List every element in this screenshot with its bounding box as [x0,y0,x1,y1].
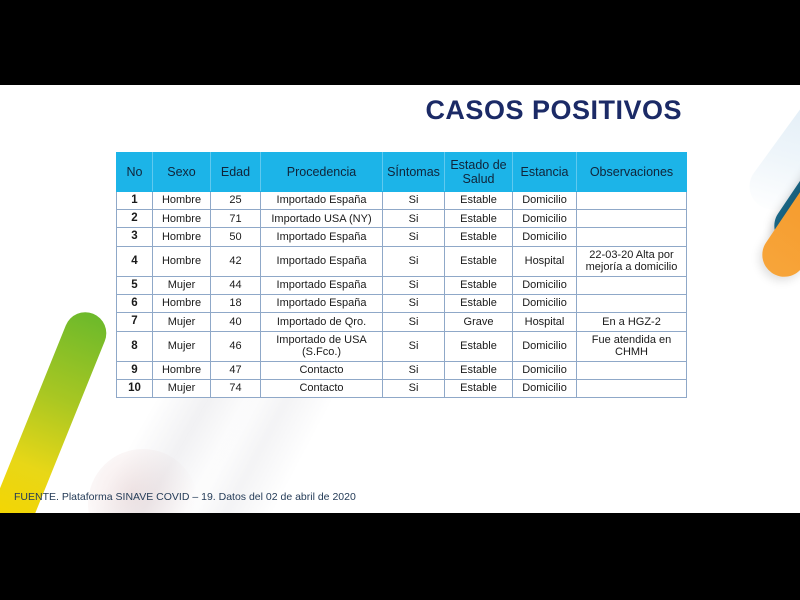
cell-observaciones [577,361,687,379]
cell-estancia: Hospital [513,246,577,276]
column-header-procedencia: Procedencia [261,153,383,192]
table-header-row: No Sexo Edad Procedencia SÍntomas Estado… [117,153,687,192]
cell-sexo: Hombre [153,246,211,276]
cell-estancia: Domicilio [513,295,577,313]
cell-no: 4 [117,246,153,276]
cases-table-container: No Sexo Edad Procedencia SÍntomas Estado… [116,152,686,398]
source-note: FUENTE. Plataforma SINAVE COVID – 19. Da… [14,491,356,503]
cell-procedencia: Importado España [261,276,383,294]
ribbon-teal-top-right-decoration [766,85,800,256]
ribbon-pale-blue-top-right-decoration [740,85,800,219]
table-body: 1Hombre25Importado EspañaSiEstableDomici… [117,192,687,398]
cell-edad: 42 [211,246,261,276]
table-row: 1Hombre25Importado EspañaSiEstableDomici… [117,192,687,210]
cell-estado-salud: Estable [445,361,513,379]
cell-sexo: Mujer [153,331,211,361]
cell-estado-salud: Grave [445,313,513,331]
cell-estado-salud: Estable [445,228,513,246]
cell-sexo: Hombre [153,192,211,210]
cell-observaciones: En a HGZ-2 [577,313,687,331]
slide-canvas: CASOS POSITIVOS No Sexo Edad Procedencia… [0,85,800,513]
cell-no: 10 [117,380,153,398]
ribbon-green-yellow-bottom-left-decoration [0,306,113,513]
cell-edad: 46 [211,331,261,361]
table-row: 6Hombre18Importado EspañaSiEstableDomici… [117,295,687,313]
cell-no: 9 [117,361,153,379]
cell-no: 8 [117,331,153,361]
cell-procedencia: Contacto [261,361,383,379]
cell-observaciones [577,276,687,294]
cell-sintomas: Si [383,313,445,331]
cell-no: 6 [117,295,153,313]
cell-estado-salud: Estable [445,192,513,210]
cell-procedencia: Importado España [261,228,383,246]
table-row: 10Mujer74ContactoSiEstableDomicilio [117,380,687,398]
table-row: 3Hombre50Importado EspañaSiEstableDomici… [117,228,687,246]
cell-edad: 44 [211,276,261,294]
blob-pink-decoration [88,449,198,513]
cell-estado-salud: Estable [445,295,513,313]
cell-estancia: Domicilio [513,331,577,361]
cell-sexo: Mujer [153,380,211,398]
cell-observaciones [577,295,687,313]
cell-no: 1 [117,192,153,210]
cell-estado-salud: Estable [445,380,513,398]
table-row: 2Hombre71Importado USA (NY)SiEstableDomi… [117,210,687,228]
cell-sexo: Mujer [153,313,211,331]
cell-procedencia: Importado de Qro. [261,313,383,331]
column-header-edad: Edad [211,153,261,192]
cell-sintomas: Si [383,276,445,294]
cell-sintomas: Si [383,331,445,361]
slide-title: CASOS POSITIVOS [425,95,682,126]
cell-observaciones [577,192,687,210]
column-header-sintomas: SÍntomas [383,153,445,192]
cell-sexo: Hombre [153,361,211,379]
ribbon-orange-top-right-decoration [754,120,800,286]
column-header-estado-salud: Estado de Salud [445,153,513,192]
cell-edad: 40 [211,313,261,331]
cell-sintomas: Si [383,295,445,313]
ribbon-pale-blue-bottom-left-decoration [0,351,93,513]
cell-sexo: Hombre [153,210,211,228]
table-row: 9Hombre47ContactoSiEstableDomicilio [117,361,687,379]
column-header-estancia: Estancia [513,153,577,192]
cell-sintomas: Si [383,210,445,228]
cell-sintomas: Si [383,192,445,210]
cell-estancia: Hospital [513,313,577,331]
cell-estancia: Domicilio [513,210,577,228]
cell-sintomas: Si [383,380,445,398]
cell-procedencia: Importado España [261,295,383,313]
cell-estado-salud: Estable [445,246,513,276]
cell-edad: 47 [211,361,261,379]
cell-sintomas: Si [383,361,445,379]
column-header-observaciones: Observaciones [577,153,687,192]
cell-observaciones: 22-03-20 Alta por mejoría a domicilio [577,246,687,276]
cell-edad: 25 [211,192,261,210]
cell-procedencia: Importado España [261,192,383,210]
cell-observaciones: Fue atendida en CHMH [577,331,687,361]
cell-edad: 50 [211,228,261,246]
cell-edad: 74 [211,380,261,398]
screenshot-stage: CASOS POSITIVOS No Sexo Edad Procedencia… [0,0,800,600]
cell-procedencia: Importado USA (NY) [261,210,383,228]
column-header-sexo: Sexo [153,153,211,192]
cell-estado-salud: Estable [445,276,513,294]
table-row: 5Mujer44Importado EspañaSiEstableDomicil… [117,276,687,294]
cell-no: 3 [117,228,153,246]
cell-estancia: Domicilio [513,228,577,246]
cell-estancia: Domicilio [513,192,577,210]
cell-estancia: Domicilio [513,361,577,379]
column-header-no: No [117,153,153,192]
cell-estancia: Domicilio [513,276,577,294]
cell-observaciones [577,228,687,246]
cell-edad: 18 [211,295,261,313]
cell-observaciones [577,380,687,398]
cell-estado-salud: Estable [445,331,513,361]
cell-no: 5 [117,276,153,294]
cell-edad: 71 [211,210,261,228]
cell-sintomas: Si [383,246,445,276]
table-row: 8Mujer46Importado de USA (S.Fco.)SiEstab… [117,331,687,361]
cell-estancia: Domicilio [513,380,577,398]
cell-procedencia: Contacto [261,380,383,398]
cell-no: 7 [117,313,153,331]
cell-observaciones [577,210,687,228]
cell-sexo: Mujer [153,276,211,294]
table-row: 7Mujer40Importado de Qro.SiGraveHospital… [117,313,687,331]
cell-no: 2 [117,210,153,228]
positive-cases-table: No Sexo Edad Procedencia SÍntomas Estado… [116,152,687,398]
table-header-row-group: No Sexo Edad Procedencia SÍntomas Estado… [117,153,687,192]
cell-procedencia: Importado España [261,246,383,276]
cell-sintomas: Si [383,228,445,246]
cell-sexo: Hombre [153,295,211,313]
table-row: 4Hombre42Importado EspañaSiEstableHospit… [117,246,687,276]
cell-estado-salud: Estable [445,210,513,228]
cell-procedencia: Importado de USA (S.Fco.) [261,331,383,361]
cell-sexo: Hombre [153,228,211,246]
